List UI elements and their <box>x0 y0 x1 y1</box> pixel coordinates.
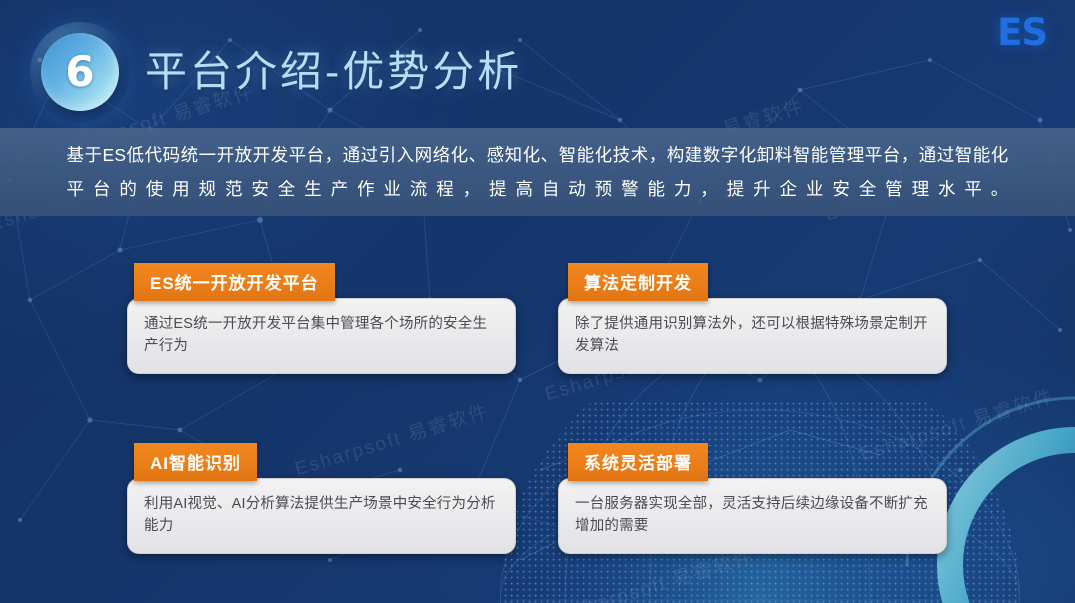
advantage-card: AI智能识别 利用AI视觉、AI分析算法提供生产场景中安全行为分析能力 <box>127 443 516 554</box>
advantage-card-text: 除了提供通用识别算法外，还可以根据特殊场景定制开发算法 <box>575 313 930 357</box>
slide-number-badge-inner: 6 <box>41 33 119 111</box>
advantage-card-title: 算法定制开发 <box>568 263 708 301</box>
advantage-card-body: 一台服务器实现全部，灵活支持后续边缘设备不断扩充增加的需要 <box>558 478 947 554</box>
advantage-card: 系统灵活部署 一台服务器实现全部，灵活支持后续边缘设备不断扩充增加的需要 <box>558 443 947 554</box>
advantage-card-body: 利用AI视觉、AI分析算法提供生产场景中安全行为分析能力 <box>127 478 516 554</box>
summary-banner-text: 基于ES低代码统一开放开发平台，通过引入网络化、感知化、智能化技术，构建数字化卸… <box>67 138 1009 206</box>
slide-number-badge: 6 <box>30 22 130 122</box>
advantage-card-text: 一台服务器实现全部，灵活支持后续边缘设备不断扩充增加的需要 <box>575 493 930 537</box>
advantage-card-text: 通过ES统一开放开发平台集中管理各个场所的安全生产行为 <box>144 313 499 357</box>
es-logo: ES <box>997 11 1047 54</box>
advantage-card-body: 通过ES统一开放开发平台集中管理各个场所的安全生产行为 <box>127 298 516 374</box>
advantage-card-title: 系统灵活部署 <box>568 443 708 481</box>
advantage-card: 算法定制开发 除了提供通用识别算法外，还可以根据特殊场景定制开发算法 <box>558 263 947 374</box>
summary-banner: 基于ES低代码统一开放开发平台，通过引入网络化、感知化、智能化技术，构建数字化卸… <box>0 128 1075 216</box>
page-title: 平台介绍-优势分析 <box>145 38 522 99</box>
advantage-card-title: AI智能识别 <box>134 443 257 481</box>
slide-canvas: Esharpsoft 易睿软件 Esharpsoft 易睿软件 Esharpso… <box>0 0 1075 603</box>
advantage-card: ES统一开放开发平台 通过ES统一开放开发平台集中管理各个场所的安全生产行为 <box>127 263 516 374</box>
advantage-card-body: 除了提供通用识别算法外，还可以根据特殊场景定制开发算法 <box>558 298 947 374</box>
advantage-card-title: ES统一开放开发平台 <box>134 263 335 301</box>
slide-number: 6 <box>65 51 94 93</box>
advantage-card-text: 利用AI视觉、AI分析算法提供生产场景中安全行为分析能力 <box>144 493 499 537</box>
